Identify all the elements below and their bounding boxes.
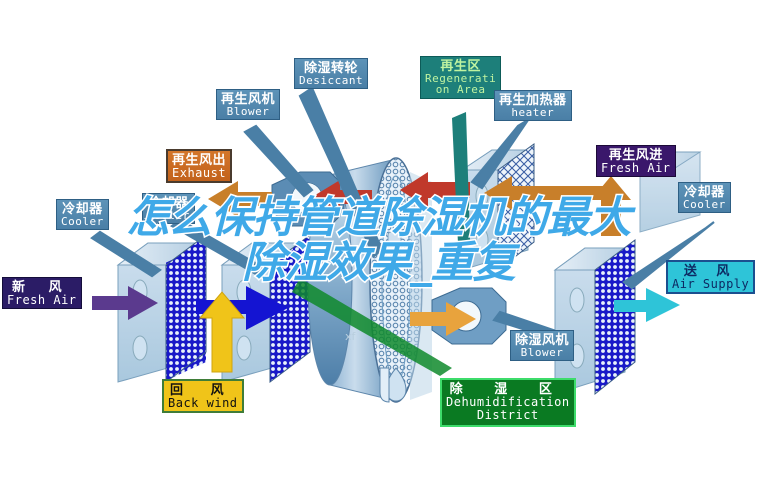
label-regeneration-heater-en: heater	[499, 107, 567, 119]
label-desiccant-wheel-en: Desiccant	[299, 75, 363, 87]
label-regeneration-exhaust: 再生风出 Exhaust	[166, 149, 232, 183]
label-back-wind-en: Back wind	[168, 397, 238, 410]
label-regeneration-area-en2: on Area	[425, 84, 496, 96]
label-dehumidification-blower: 除湿风机 Blower	[510, 330, 574, 361]
label-regeneration-area: 再生区 Regenerati on Area	[420, 56, 501, 99]
overlay-headline: 怎么保持管道除湿机的最大 除湿效果_重复	[0, 196, 757, 286]
label-regeneration-fresh-air: 再生风进 Fresh Air	[596, 145, 676, 177]
label-dehumidification-district-en1: Dehumidification	[446, 396, 570, 410]
leader-dehum-district	[292, 278, 452, 376]
label-regeneration-heater-cn: 再生加热器	[499, 93, 567, 107]
label-dehumidification-blower-cn: 除湿风机	[515, 333, 569, 347]
label-regeneration-exhaust-cn: 再生风出	[172, 153, 226, 167]
label-regeneration-blower: 再生风机 Blower	[216, 89, 280, 120]
back-wind-arrow	[200, 292, 244, 372]
label-regeneration-blower-en: Blower	[221, 106, 275, 118]
dehumidification-blower-housing	[432, 288, 506, 344]
fresh-air-in-arrow	[92, 286, 158, 320]
label-dehumidification-district-cn: 除 湿 区	[446, 382, 570, 396]
label-regeneration-fresh-air-cn: 再生风进	[601, 148, 671, 162]
cooled-air-arrow	[196, 286, 288, 330]
label-desiccant-wheel-cn: 除湿转轮	[299, 61, 363, 75]
label-back-wind: 回 风 Back wind	[162, 379, 244, 413]
process-air-arrow	[268, 302, 476, 338]
label-fresh-air-inlet-en: Fresh Air	[7, 294, 77, 307]
label-dehumidification-district: 除 湿 区 Dehumidification District	[440, 378, 576, 427]
label-dehumidification-district-en2: District	[446, 409, 570, 423]
label-regeneration-heater: 再生加热器 heater	[494, 90, 572, 121]
dehumidifier-diagram: xf	[0, 0, 757, 488]
overlay-headline-line1: 怎么保持管道除湿机的最大	[127, 193, 631, 243]
overlay-headline-line2: 除湿效果_重复	[0, 241, 757, 286]
label-back-wind-cn: 回 风	[168, 383, 238, 397]
svg-text:xf: xf	[345, 330, 357, 343]
label-dehumidification-blower-en: Blower	[515, 347, 569, 359]
label-regeneration-fresh-air-en: Fresh Air	[601, 162, 671, 175]
label-regeneration-blower-cn: 再生风机	[221, 92, 275, 106]
label-desiccant-wheel: 除湿转轮 Desiccant	[294, 58, 368, 89]
condensate-droplet	[380, 368, 406, 402]
label-regeneration-exhaust-en: Exhaust	[172, 167, 226, 180]
label-regeneration-area-cn: 再生区	[425, 59, 496, 73]
